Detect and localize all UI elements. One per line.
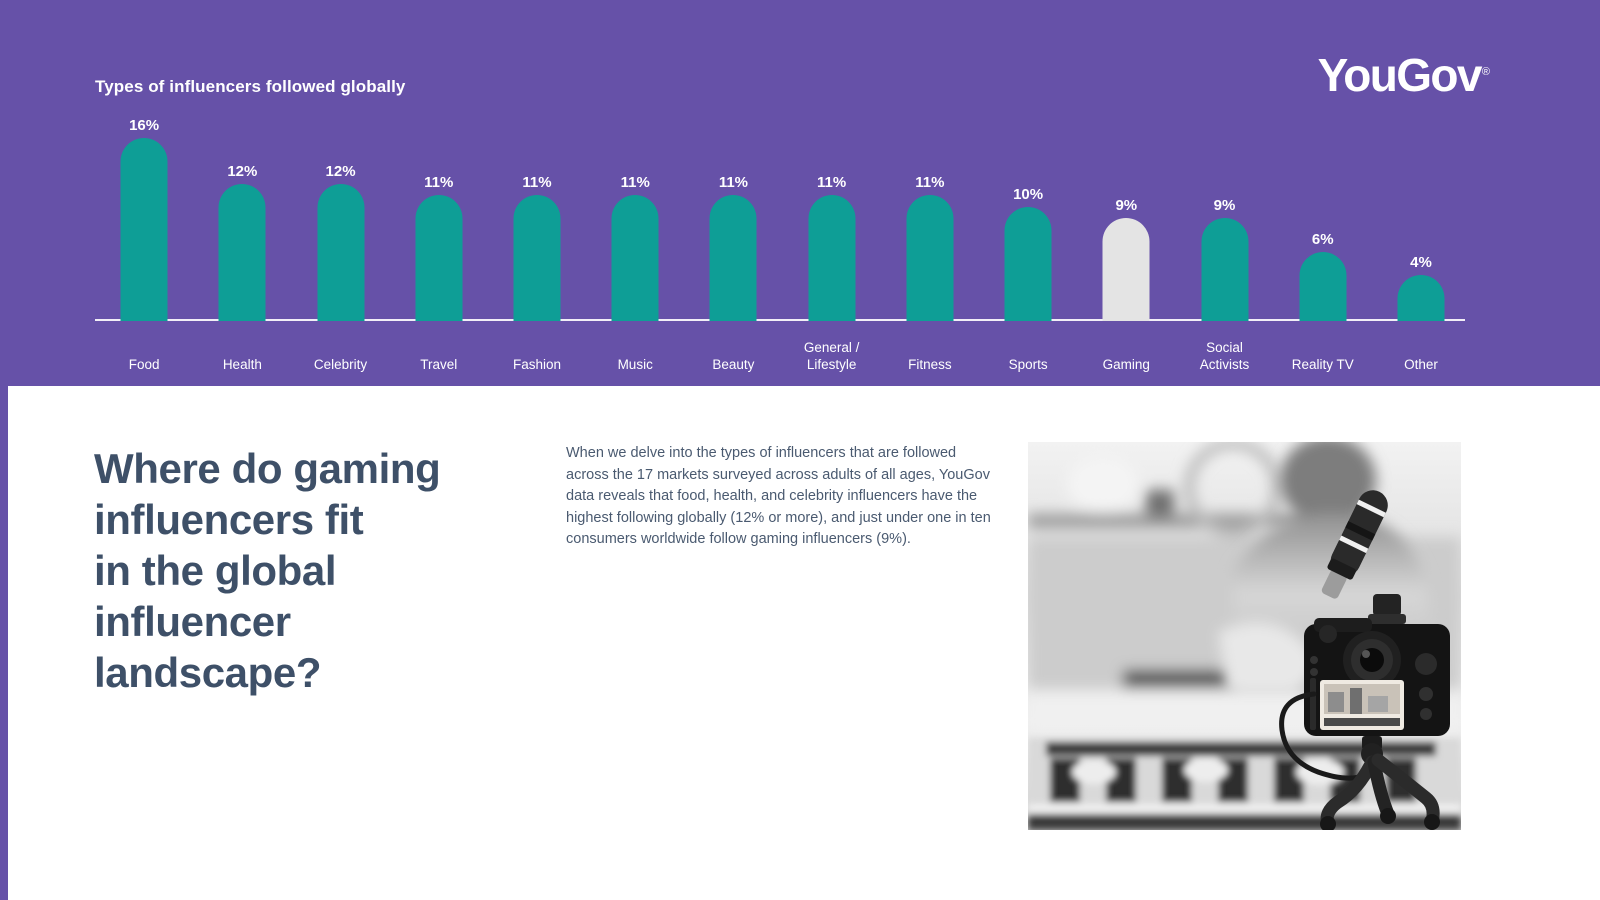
left-accent-strip — [0, 386, 8, 900]
chart-bar[interactable] — [317, 184, 364, 321]
chart-bar-group: 12%Health — [193, 118, 291, 373]
chart-bar-wrap: 12% — [219, 164, 266, 321]
chart-bar-group: 11%Fashion — [488, 118, 586, 373]
chart-bar-value: 11% — [817, 175, 846, 190]
chart-bar-wrap: 11% — [415, 175, 462, 321]
chart-bar-value: 11% — [621, 175, 650, 190]
page-headline: Where do gaming influencers fit in the g… — [94, 443, 564, 698]
chart-bar[interactable] — [513, 195, 560, 321]
chart-bar-value: 16% — [129, 118, 159, 133]
chart-bar[interactable] — [121, 138, 168, 321]
chart-bar-value: 10% — [1013, 187, 1043, 202]
chart-bar[interactable] — [1299, 252, 1346, 321]
chart-bar-wrap: 16% — [121, 118, 168, 321]
chart-bar-group: 9%Gaming — [1077, 118, 1175, 373]
chart-bar[interactable] — [808, 195, 855, 321]
chart-bar[interactable] — [1005, 207, 1052, 321]
chart-bar-group: 6%Reality TV — [1274, 118, 1372, 373]
chart-bar[interactable] — [612, 195, 659, 321]
chart-bar-wrap: 12% — [317, 164, 364, 321]
yougov-logo-text: YouGov — [1318, 49, 1481, 101]
chart-bar[interactable] — [1103, 218, 1150, 321]
chart-title: Types of influencers followed globally — [95, 77, 405, 97]
chart-bar-wrap: 9% — [1201, 198, 1248, 321]
chart-bar-value: 11% — [719, 175, 748, 190]
influencer-types-bar-chart: 16%Food12%Health12%Celebrity11%Travel11%… — [95, 118, 1470, 373]
chart-bar-group: 16%Food — [95, 118, 193, 373]
chart-bar-wrap: 6% — [1299, 232, 1346, 321]
chart-bar-group: 11%Fitness — [881, 118, 979, 373]
chart-bar-wrap: 4% — [1397, 255, 1444, 321]
chart-bar-wrap: 11% — [612, 175, 659, 321]
chart-bar[interactable] — [219, 184, 266, 321]
chart-bar-wrap: 11% — [808, 175, 855, 321]
chart-bar-group: 12%Celebrity — [291, 118, 389, 373]
chart-bar-value: 4% — [1410, 255, 1432, 270]
chart-bar-group: 9%Social Activists — [1175, 118, 1273, 373]
chart-bar-wrap: 11% — [513, 175, 560, 321]
body-paragraph: When we delve into the types of influenc… — [566, 443, 991, 551]
chart-bar-wrap: 11% — [710, 175, 757, 321]
registered-trademark-icon: ® — [1482, 66, 1490, 78]
chart-bar-value: 6% — [1312, 232, 1334, 247]
chart-bar-group: 4%Other — [1372, 118, 1470, 373]
chart-bars-container: 16%Food12%Health12%Celebrity11%Travel11%… — [95, 118, 1470, 373]
chart-bar[interactable] — [415, 195, 462, 321]
chart-bar[interactable] — [1201, 218, 1248, 321]
chart-bar-wrap: 10% — [1005, 187, 1052, 321]
kitchen-filming-photo — [1028, 442, 1461, 830]
chart-bar-value: 11% — [522, 175, 551, 190]
chart-header-panel: Types of influencers followed globally Y… — [0, 0, 1600, 386]
slide-root: Types of influencers followed globally Y… — [0, 0, 1600, 900]
chart-bar-wrap: 9% — [1103, 198, 1150, 321]
chart-bar-label: Other — [1361, 356, 1481, 373]
chart-bar-value: 9% — [1115, 198, 1137, 213]
chart-bar-group: 11%Music — [586, 118, 684, 373]
chart-bar[interactable] — [1397, 275, 1444, 321]
chart-bar-value: 11% — [915, 175, 944, 190]
chart-bar-value: 12% — [326, 164, 356, 179]
chart-bar-group: 11%General / Lifestyle — [783, 118, 881, 373]
chart-bar-wrap: 11% — [906, 175, 953, 321]
chart-bar-value: 12% — [227, 164, 257, 179]
chart-bar-group: 10%Sports — [979, 118, 1077, 373]
chart-bar-group: 11%Beauty — [684, 118, 782, 373]
chart-bar[interactable] — [906, 195, 953, 321]
chart-bar-group: 11%Travel — [390, 118, 488, 373]
chart-bar-value: 11% — [424, 175, 453, 190]
yougov-logo: YouGov® — [1318, 52, 1490, 98]
chart-bar-value: 9% — [1214, 198, 1236, 213]
chart-bar[interactable] — [710, 195, 757, 321]
